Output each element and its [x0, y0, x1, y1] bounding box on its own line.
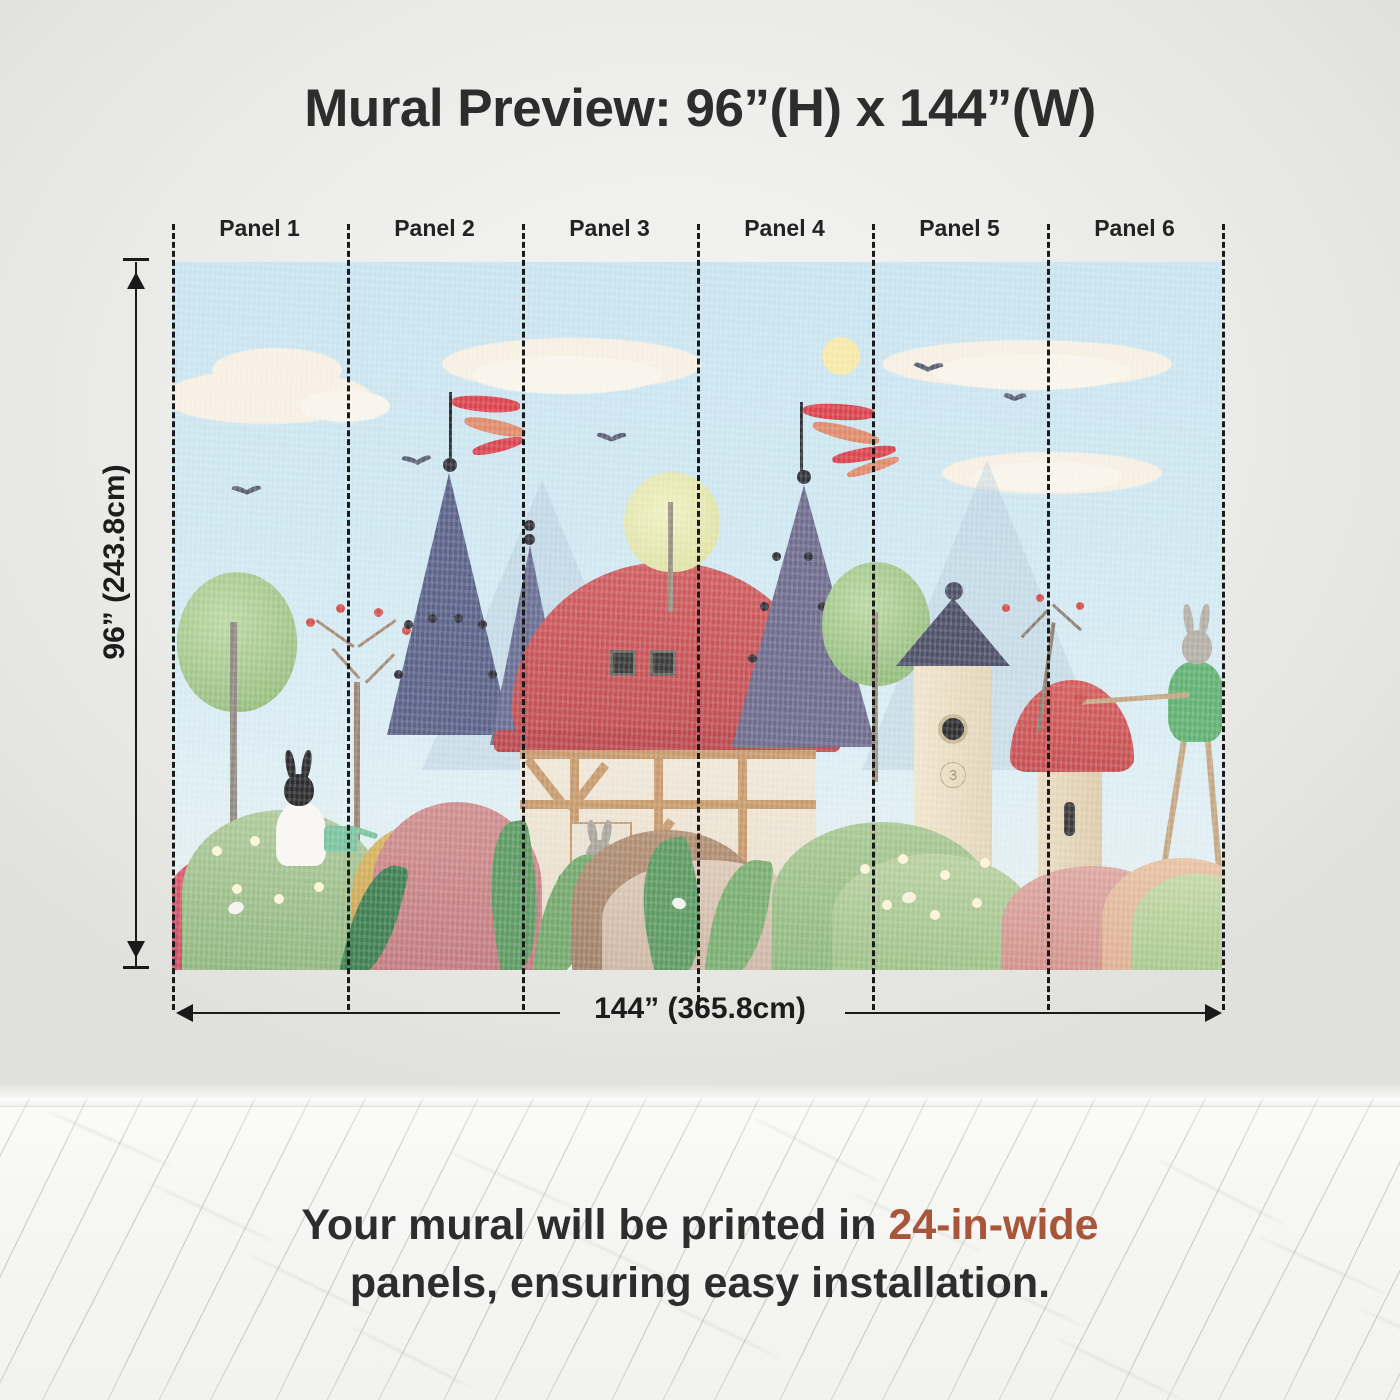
panel-label-4: Panel 4 — [697, 215, 872, 249]
mural-edge-right — [1222, 224, 1225, 1010]
caption-block: Your mural will be printed in 24-in-wide… — [0, 1196, 1400, 1312]
caption-line1-prefix: Your mural will be printed in — [301, 1201, 888, 1249]
panel-divider-1 — [347, 224, 350, 1010]
panel-divider-2 — [522, 224, 525, 1010]
caption-line-1: Your mural will be printed in 24-in-wide — [0, 1196, 1400, 1254]
panel-divider-3 — [697, 224, 700, 1010]
height-label: 96” (243.8cm) — [98, 412, 132, 712]
floor-grain — [350, 1325, 476, 1390]
panel-label-2: Panel 2 — [347, 215, 522, 249]
height-line — [135, 262, 137, 968]
panel-label-6: Panel 6 — [1047, 215, 1222, 249]
panel-divider-5 — [1047, 224, 1050, 1010]
height-arrow-down — [127, 941, 145, 958]
panel-label-1: Panel 1 — [172, 215, 347, 249]
page-title: Mural Preview: 96”(H) x 144”(W) — [0, 78, 1400, 139]
panel-label-3: Panel 3 — [522, 215, 697, 249]
width-label: 144” (365.8cm) — [0, 992, 1400, 1026]
caption-line-2: panels, ensuring easy installation. — [0, 1254, 1400, 1312]
height-arrow-up — [127, 272, 145, 289]
mural-edge-left — [172, 224, 175, 1010]
floor-grain — [754, 1117, 880, 1182]
height-cap-top — [123, 258, 149, 261]
panel-divider-4 — [872, 224, 875, 1010]
caption-accent-text: 24-in-wide — [888, 1201, 1098, 1249]
panel-label-5: Panel 5 — [872, 215, 1047, 249]
